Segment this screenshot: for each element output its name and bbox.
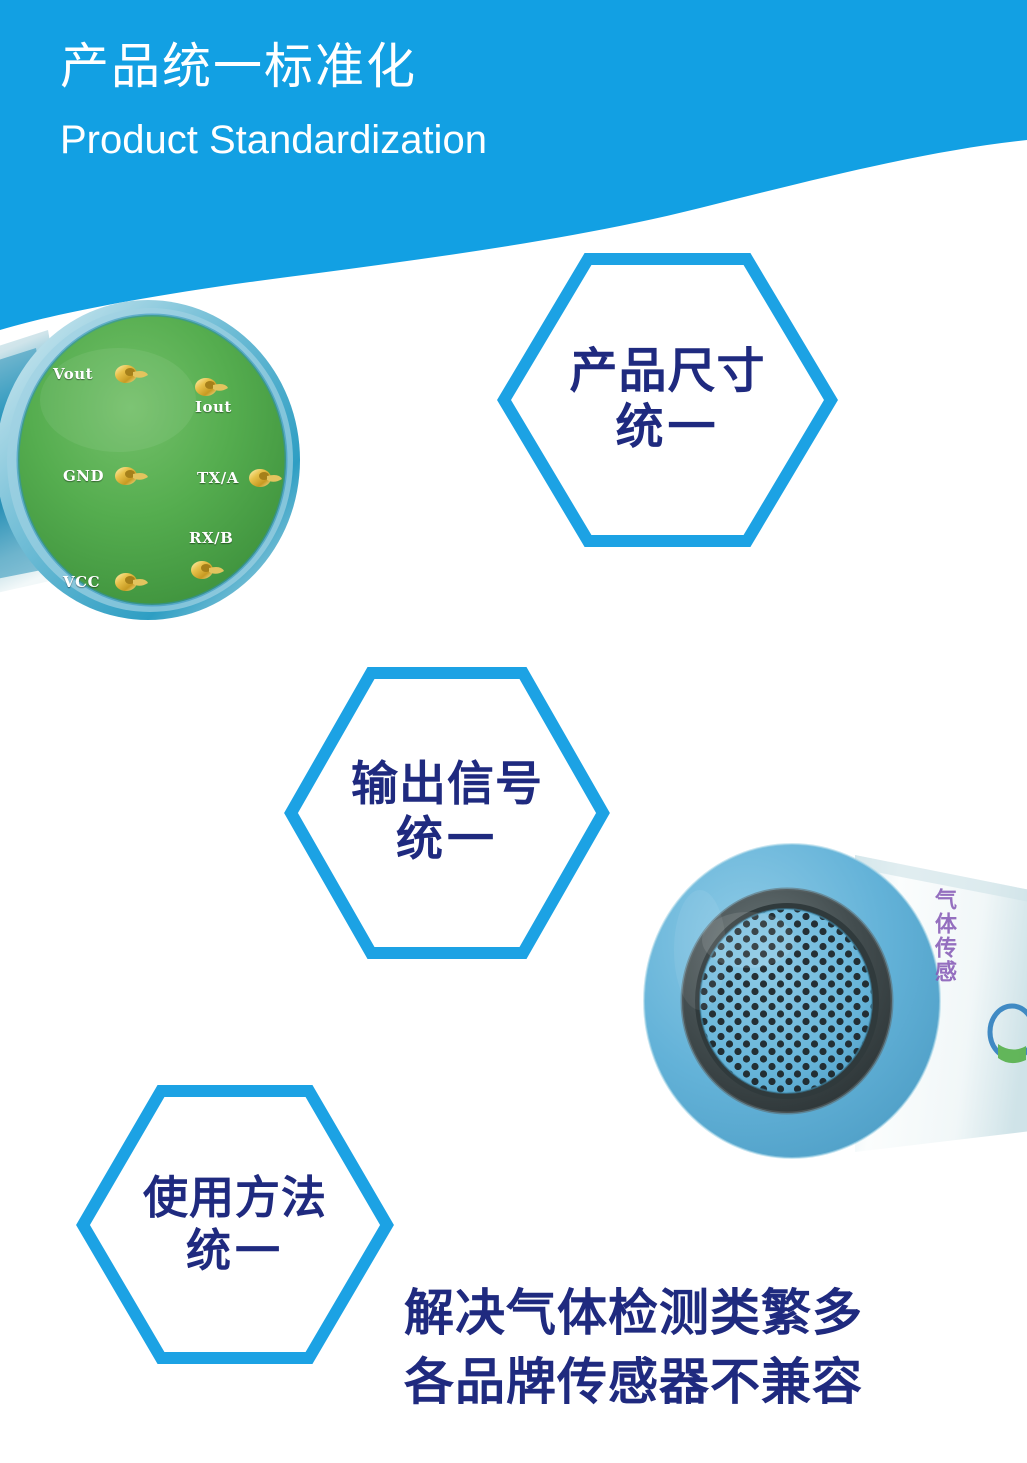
pcb-sensor-photo: Vout Iout GND TX/A RX/B VCC xyxy=(0,272,360,652)
badge-output-signal-unified[interactable]: 输出信号 统一 xyxy=(282,664,612,962)
caption-line-1: 解决气体检测类繁多 xyxy=(404,1278,994,1347)
poster-page: 产品统一标准化 Product Standardization xyxy=(0,0,1027,1463)
badge-product-dimension-unified[interactable]: 产品尺寸 统一 xyxy=(495,250,840,550)
badge-usage-method-unified[interactable]: 使用方法 统一 xyxy=(74,1082,396,1367)
caption-line-2: 各品牌传感器不兼容 xyxy=(404,1347,994,1416)
gas-sensor-photo: 气体传感 xyxy=(640,800,1027,1220)
bottom-caption: 解决气体检测类繁多 各品牌传感器不兼容 xyxy=(404,1278,994,1416)
page-title-en: Product Standardization xyxy=(60,118,487,162)
page-title-cn: 产品统一标准化 xyxy=(60,42,417,94)
